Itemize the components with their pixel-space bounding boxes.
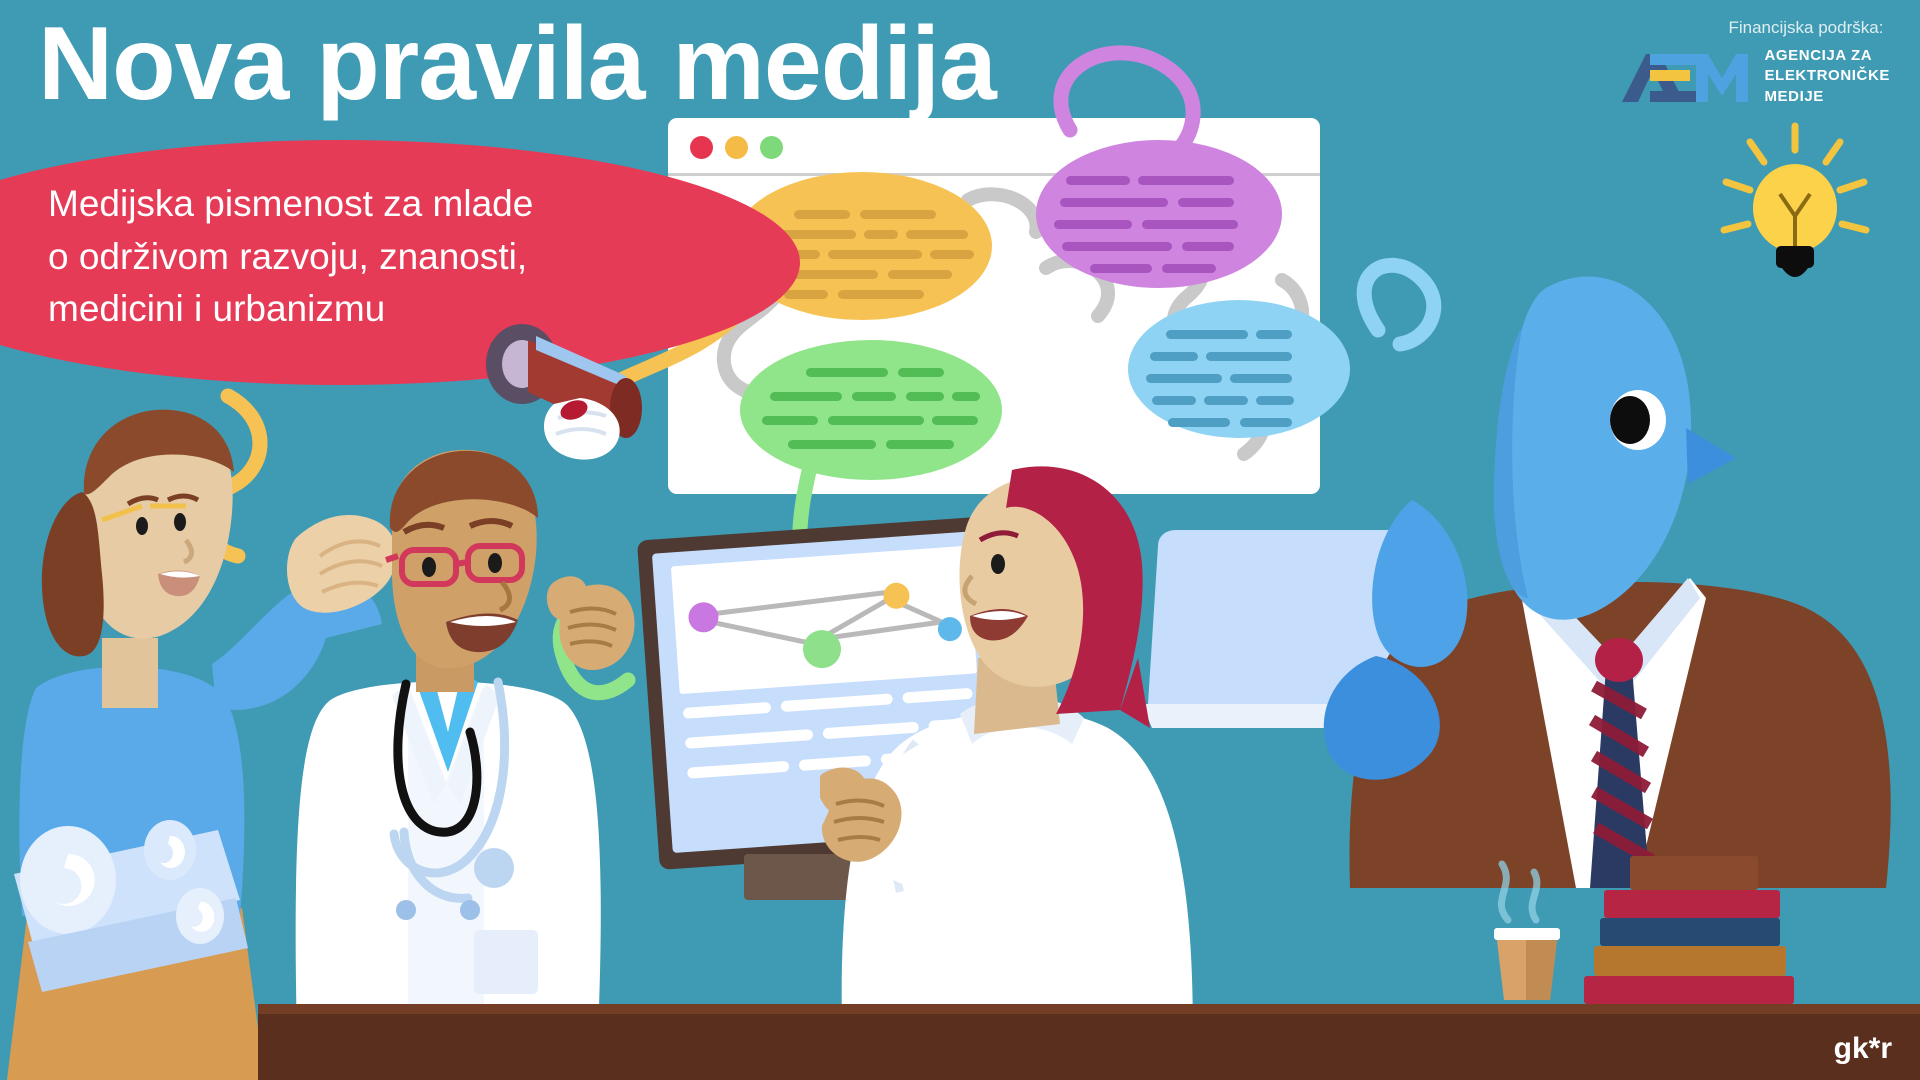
bubble-text-line [932, 416, 978, 425]
book [1630, 856, 1758, 890]
aem-line-3: MEDIJE [1764, 87, 1890, 107]
shark-head [1500, 277, 1691, 620]
bubble-text-line [852, 392, 896, 401]
poster-subtitle: Medijska pismenost za mlade o održivom r… [48, 178, 688, 336]
subtitle-line-3: medicini i urbanizmu [48, 283, 688, 336]
bubble-text-line [1230, 374, 1292, 383]
aem-line-1: AGENCIJA ZA [1764, 46, 1890, 66]
bubble-text-line [1256, 330, 1292, 339]
bubble-text-line [1138, 176, 1234, 185]
desk [258, 1004, 1920, 1080]
funding-support-block: Financijska podrška: AGENCIJA ZA ELEKTRO… [1620, 18, 1890, 107]
woman-ponytail [42, 492, 104, 656]
bubble-text-line [794, 210, 850, 219]
bubble-text-line [886, 440, 954, 449]
bubble-text-line [838, 290, 924, 299]
page-title: Nova pravila medija [38, 8, 996, 120]
bubble-text-line [906, 230, 968, 239]
bubble-text-line [1256, 396, 1294, 405]
shark-dorsal-fin [1686, 428, 1736, 484]
bubble-text-line [1240, 418, 1292, 427]
subtitle-line-2: o održivom razvoju, znanosti, [48, 231, 688, 284]
bubble-text-line [770, 392, 842, 401]
woman-eye-left [136, 517, 148, 535]
bubble-text-line [784, 290, 828, 299]
book [1594, 946, 1786, 976]
bubble-text-line [1178, 198, 1234, 207]
bubble-text-line [864, 230, 898, 239]
woman-neck [102, 638, 158, 708]
book [1604, 890, 1780, 918]
bubble-text-line [1152, 396, 1196, 405]
book [1584, 976, 1794, 1004]
bubble-text-line [1150, 352, 1198, 361]
scientist-woman [820, 452, 1240, 1080]
bubble-text-line [1142, 220, 1238, 229]
aem-organisation-name: AGENCIJA ZA ELEKTRONIČKE MEDIJE [1764, 46, 1890, 107]
bubble-text-line [1166, 330, 1248, 339]
bubble-text-line [1182, 242, 1234, 251]
bubble-text-line [1054, 220, 1132, 229]
bubble-text-line [788, 440, 876, 449]
bubble-text-line [860, 210, 936, 219]
bubble-text-line [1060, 198, 1168, 207]
close-dot-icon[interactable] [690, 136, 713, 159]
coffee-cup-icon [1470, 844, 1590, 1004]
bubble-text-line [1162, 264, 1216, 273]
bubble-text-line [828, 416, 924, 425]
woman-eye-right [174, 513, 186, 531]
speech-bubble-purple[interactable] [1036, 140, 1282, 288]
bubble-text-line [1206, 352, 1292, 361]
doctor-pocket [474, 930, 538, 994]
bubble-text-line [898, 368, 944, 377]
aem-logo-icon [1620, 48, 1748, 104]
book-stack [1560, 854, 1800, 1004]
bubble-text-line [1146, 374, 1222, 383]
shark-businessman [1306, 268, 1920, 888]
book [1600, 918, 1780, 946]
bubble-text-line [906, 392, 944, 401]
shark-pupil [1610, 396, 1650, 444]
graph-edge [704, 618, 815, 646]
aem-line-2: ELEKTRONIČKE [1764, 66, 1890, 86]
subtitle-line-1: Medijska pismenost za mlade [48, 178, 688, 231]
bubble-text-line [930, 250, 974, 259]
bubble-text-line [1062, 242, 1172, 251]
maximize-dot-icon[interactable] [760, 136, 783, 159]
bubble-text-line [1090, 264, 1152, 273]
shark-fin-left [1372, 500, 1467, 667]
shark-tie-knot [1595, 638, 1643, 682]
studio-watermark: gk*r [1834, 1032, 1892, 1066]
doctor-man [288, 432, 708, 1080]
doctor-eye-left [422, 557, 436, 577]
scientist-eye [991, 554, 1005, 574]
bubble-text-line [888, 270, 952, 279]
bubble-text-line [828, 250, 922, 259]
minimize-dot-icon[interactable] [725, 136, 748, 159]
desk-top-edge [258, 1004, 1920, 1014]
bulb-base [1776, 246, 1814, 268]
stethoscope-chestpiece [474, 848, 514, 888]
bubble-text-line [806, 368, 888, 377]
bubble-text-line [1168, 418, 1230, 427]
steam [1501, 864, 1537, 920]
bubble-text-line [1066, 176, 1130, 185]
bubble-text-line [1204, 396, 1248, 405]
funding-label: Financijska podrška: [1728, 18, 1890, 38]
bubble-text-line [762, 416, 818, 425]
doctor-hand [547, 576, 635, 670]
doctor-eye-right [488, 553, 502, 573]
cup-lid [1494, 928, 1560, 940]
bubble-text-line [952, 392, 980, 401]
poster-canvas: Medijska pismenost za mlade o održivom r… [0, 0, 1920, 1080]
